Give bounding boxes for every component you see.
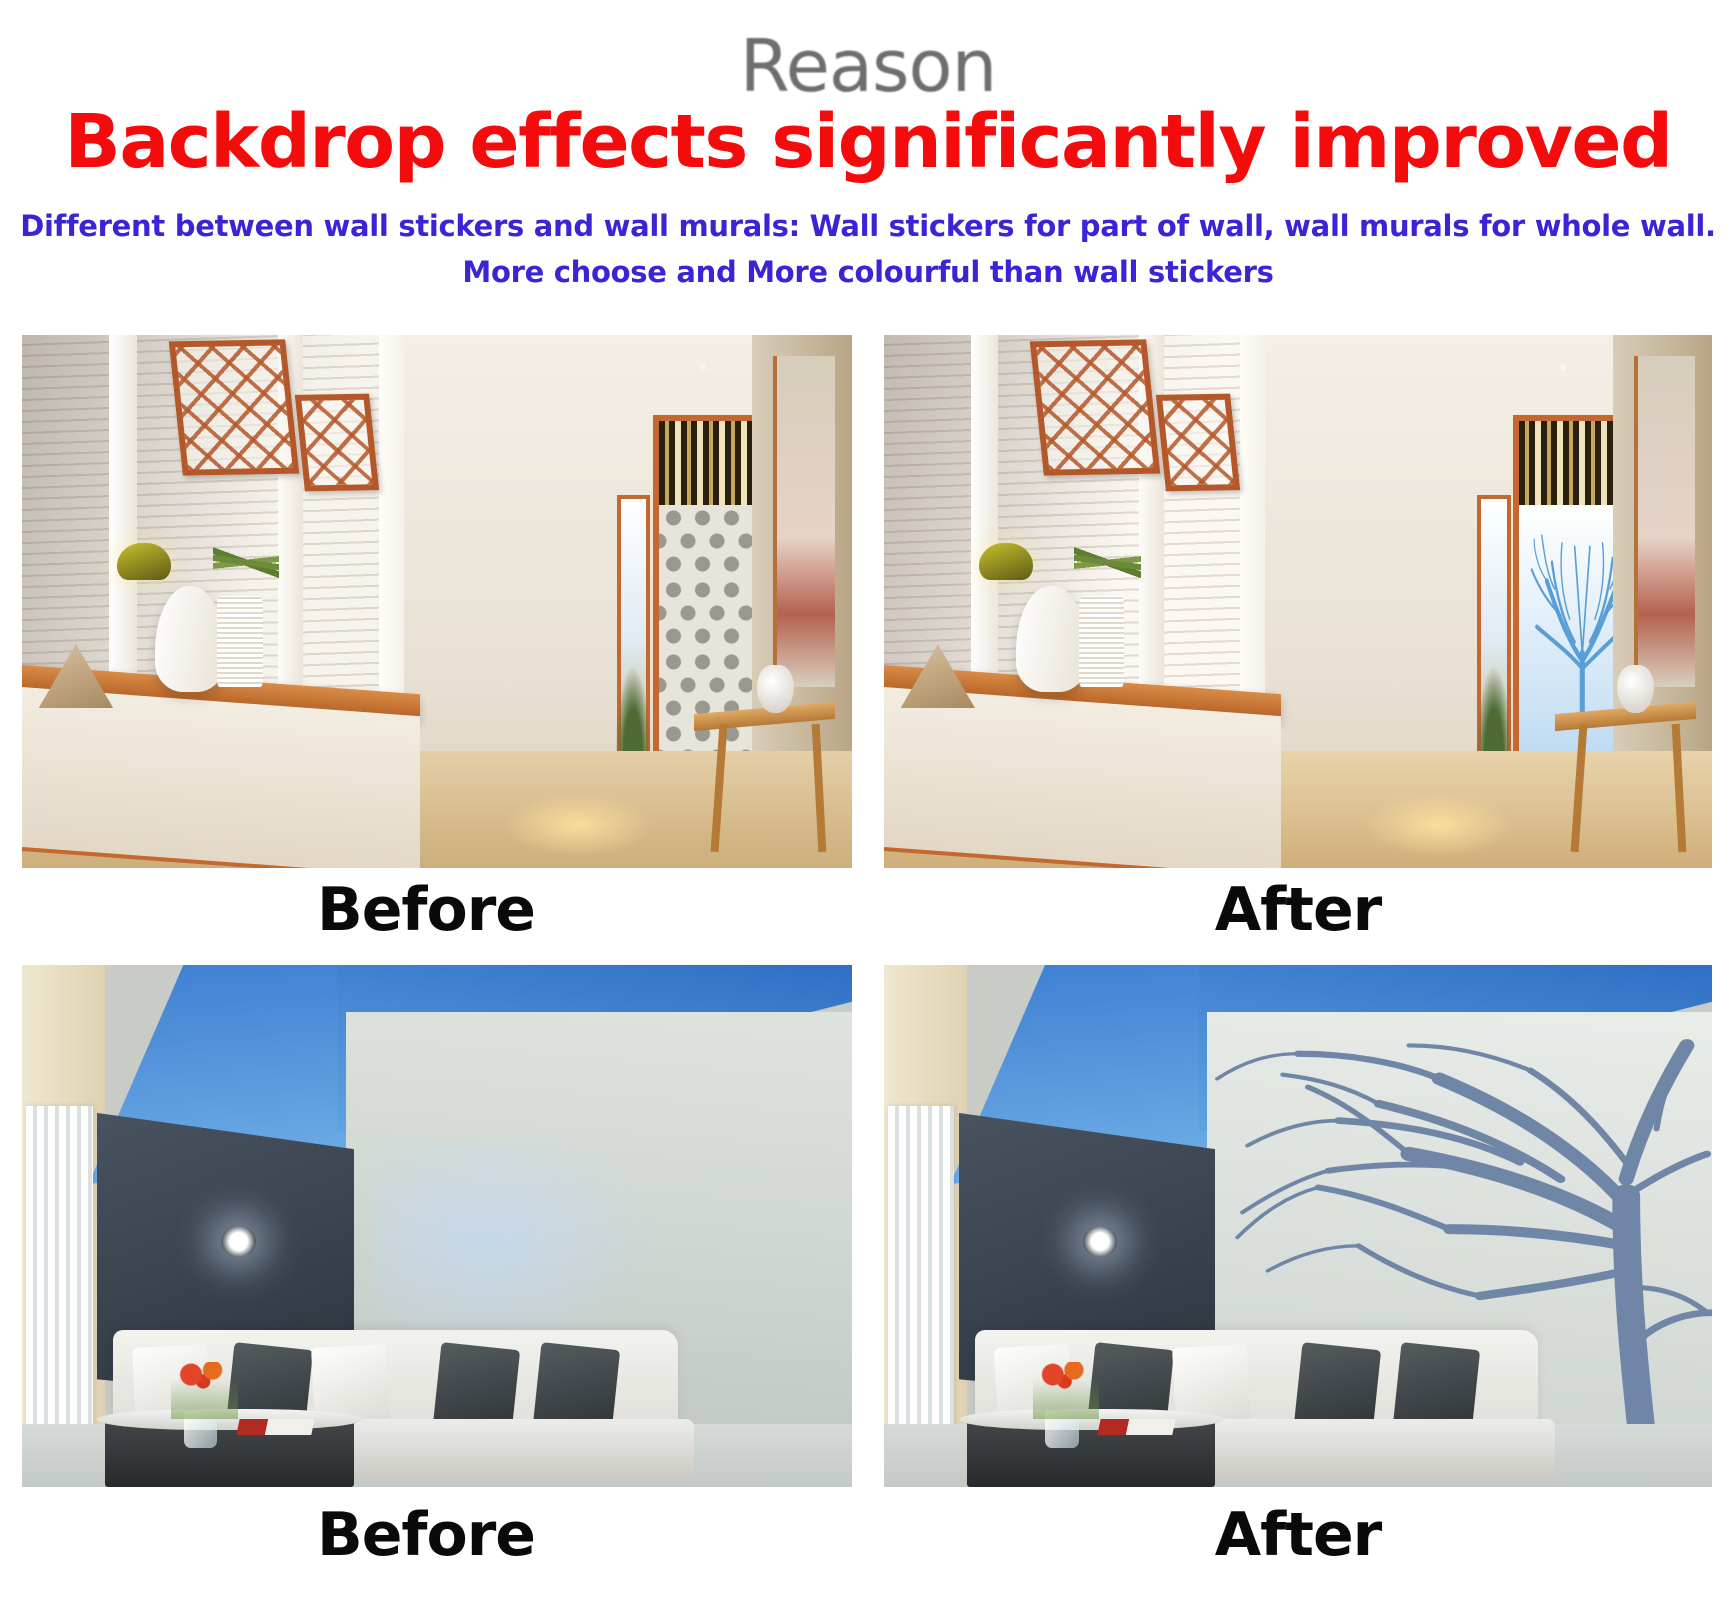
header-block: Reason Backdrop effects significantly im… xyxy=(0,0,1736,320)
photo-living-room-after xyxy=(884,965,1712,1487)
plant-stems xyxy=(1074,516,1140,607)
hallway-before-scene xyxy=(22,335,852,868)
caption-living-room-before: Before xyxy=(0,1505,852,1565)
table-ornament xyxy=(757,665,794,713)
living-room-before-scene xyxy=(22,965,852,1487)
far-plant xyxy=(1476,665,1512,761)
subtitle-line-1: Different between wall stickers and wall… xyxy=(0,209,1736,243)
wall-lamp xyxy=(117,543,171,580)
ceiling-downlight-icon xyxy=(1560,362,1566,374)
photo-living-room-before xyxy=(22,965,852,1487)
wall-column-1 xyxy=(971,335,998,719)
wall-art xyxy=(1634,356,1696,686)
white-vase-ribbed xyxy=(217,596,263,687)
caption-living-room-after: After xyxy=(884,1505,1712,1565)
book-on-table xyxy=(236,1419,314,1435)
white-vase-ribbed xyxy=(1079,596,1125,687)
caption-hallway-before: Before xyxy=(0,880,852,940)
lattice-ornament-small xyxy=(1156,393,1241,491)
wall-column-1 xyxy=(109,335,136,719)
cabinet xyxy=(22,687,420,868)
page-title: Backdrop effects significantly improved xyxy=(0,104,1736,182)
floor-light-reflection xyxy=(1364,793,1513,857)
photo-hallway-before xyxy=(22,335,852,868)
book-on-table xyxy=(1098,1419,1176,1435)
far-plant xyxy=(615,665,651,761)
flower-bouquet xyxy=(1033,1362,1099,1419)
lattice-ornament-small xyxy=(295,393,380,491)
hallway-after-scene xyxy=(884,335,1712,868)
radiator xyxy=(888,1106,954,1451)
plant-stems xyxy=(213,516,279,607)
radiator xyxy=(26,1106,92,1451)
kicker-title: Reason xyxy=(0,30,1736,102)
living-room-after-scene xyxy=(884,965,1712,1487)
wall-art xyxy=(773,356,835,686)
flower-bouquet xyxy=(171,1362,237,1419)
subtitle-line-2: More choose and More colourful than wall… xyxy=(0,255,1736,289)
ceiling-downlight-icon xyxy=(700,362,706,374)
lattice-ornament-large xyxy=(168,340,298,476)
wall-light-wash xyxy=(371,1142,653,1361)
wall-lamp xyxy=(979,543,1033,580)
cabinet xyxy=(884,687,1281,868)
lattice-ornament-large xyxy=(1030,340,1160,476)
photo-hallway-after xyxy=(884,335,1712,868)
caption-hallway-after: After xyxy=(884,880,1712,940)
floor-light-reflection xyxy=(503,793,652,857)
